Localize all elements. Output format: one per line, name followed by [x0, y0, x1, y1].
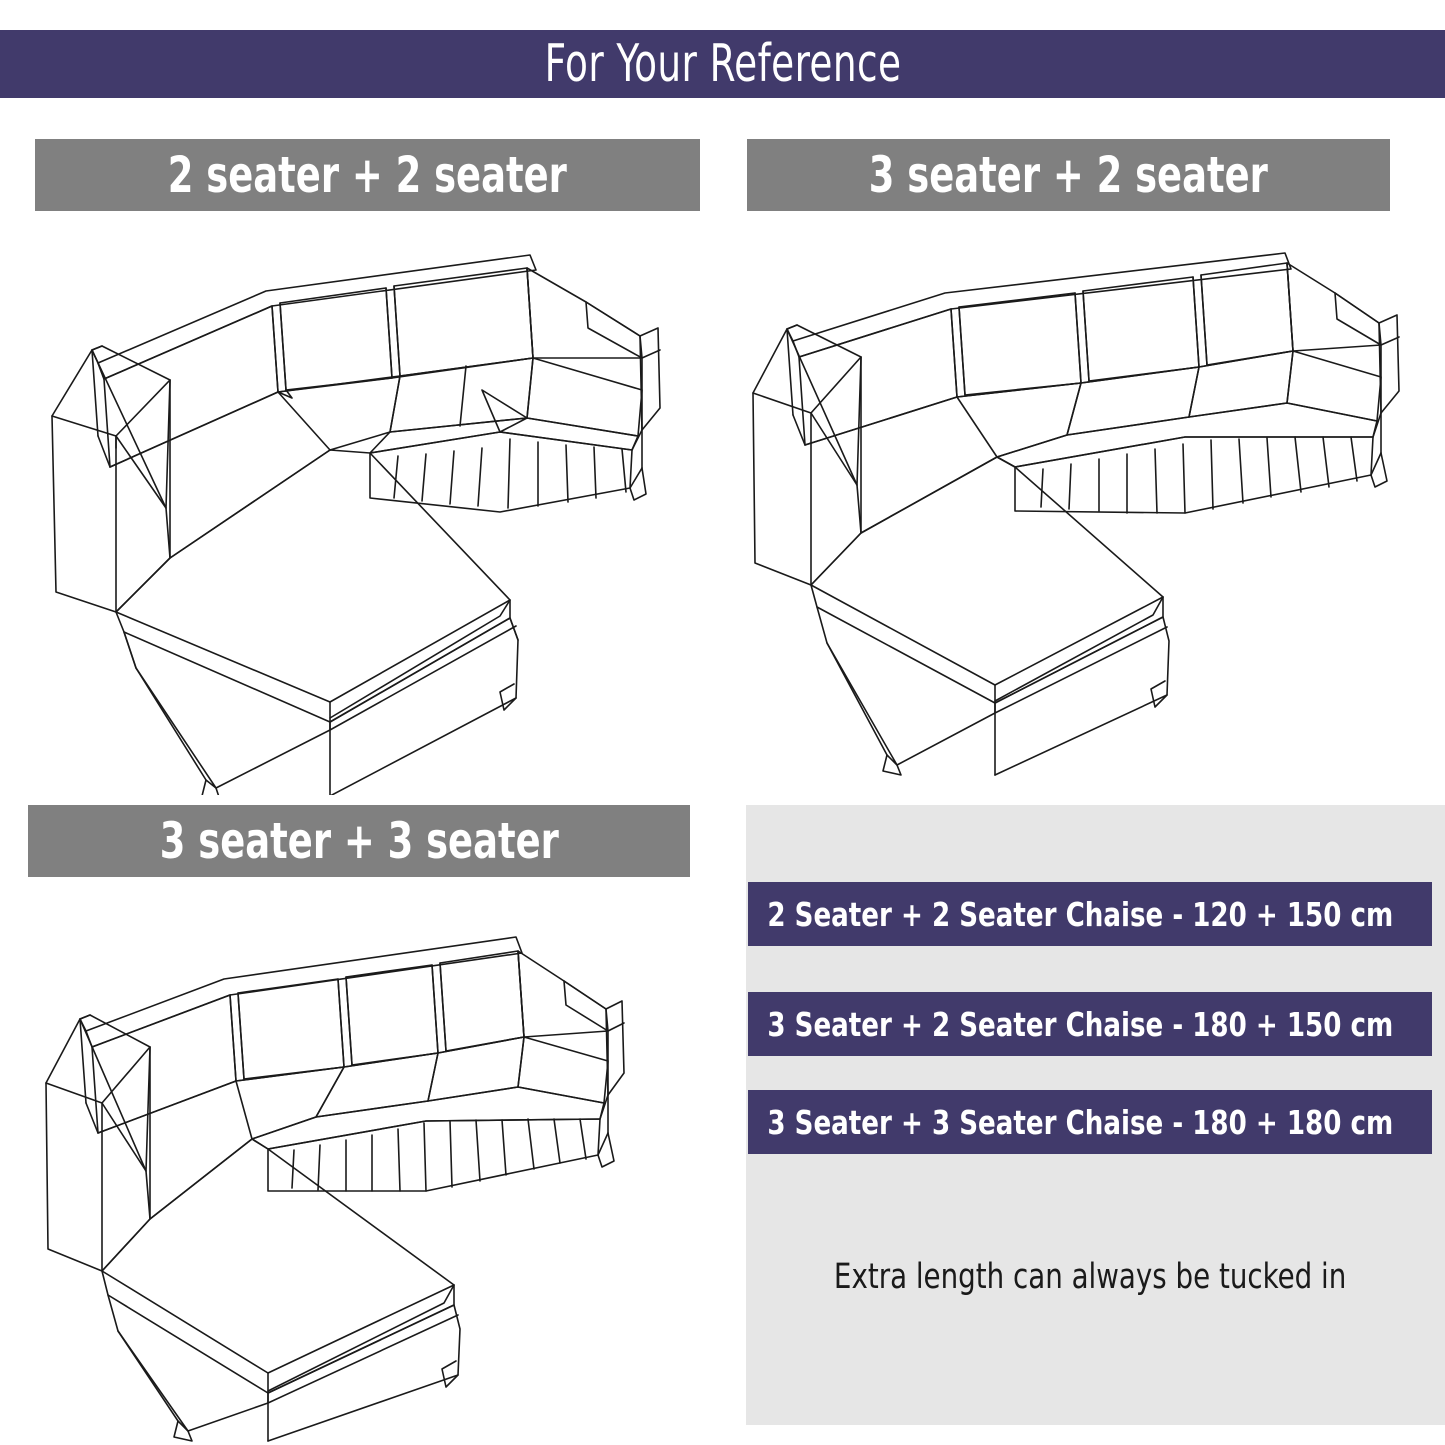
section-label-3plus3: 3 seater + 3 seater	[28, 805, 690, 877]
seat-cushions	[957, 351, 1381, 467]
chaise-seat	[102, 1139, 454, 1393]
sofa-base-right	[370, 430, 646, 512]
page-title: For Your Reference	[544, 38, 901, 90]
back-panel-lower	[787, 325, 1293, 445]
left-arm	[52, 346, 170, 612]
size-row-3plus3: 3 Seater + 3 Seater Chaise - 180 + 180 c…	[748, 1090, 1432, 1154]
tuck-in-note-text: Extra length can always be tucked in	[834, 1260, 1346, 1295]
chaise-base	[108, 1295, 460, 1441]
section-label-2plus2: 2 seater + 2 seater	[35, 139, 700, 211]
sofa-illustration-3plus3	[20, 905, 710, 1445]
back-cushion-row	[86, 937, 524, 1133]
size-row-text: 3 Seater + 3 Seater Chaise - 180 + 180 c…	[748, 1106, 1393, 1139]
section-label-text: 3 seater + 2 seater	[869, 150, 1268, 200]
size-row-text: 2 Seater + 2 Seater Chaise - 120 + 150 c…	[748, 898, 1393, 931]
seat-cushions	[236, 1037, 608, 1149]
back-panel-lower	[80, 1015, 524, 1133]
back-panel-lower	[92, 346, 533, 467]
size-row-2plus2: 2 Seater + 2 Seater Chaise - 120 + 150 c…	[748, 882, 1432, 946]
section-label-text: 3 seater + 3 seater	[159, 816, 558, 866]
chaise-base	[124, 618, 518, 795]
right-arm	[1287, 263, 1399, 413]
right-arm	[518, 951, 624, 1095]
size-row-3plus2: 3 Seater + 2 Seater Chaise - 180 + 150 c…	[748, 992, 1432, 1056]
header-band: For Your Reference	[0, 30, 1445, 98]
size-row-text: 3 Seater + 2 Seater Chaise - 180 + 150 c…	[748, 1008, 1393, 1041]
chaise-seat	[811, 457, 1163, 703]
sofa-illustration-3plus2	[745, 245, 1435, 780]
section-label-text: 2 seater + 2 seater	[168, 150, 567, 200]
back-cushion-row	[793, 253, 1293, 445]
sofa-base-right	[1015, 413, 1387, 513]
sofa-illustration-2plus2	[30, 240, 720, 795]
section-label-3plus2: 3 seater + 2 seater	[747, 139, 1390, 211]
left-arm	[46, 1015, 150, 1271]
chaise-base	[817, 607, 1169, 775]
left-arm	[753, 325, 861, 585]
size-info-panel: 2 Seater + 2 Seater Chaise - 120 + 150 c…	[746, 805, 1445, 1425]
reference-graphic-page: For Your Reference 2 seater + 2 seater 3…	[0, 0, 1445, 1445]
tuck-in-note: Extra length can always be tucked in	[748, 1260, 1432, 1295]
